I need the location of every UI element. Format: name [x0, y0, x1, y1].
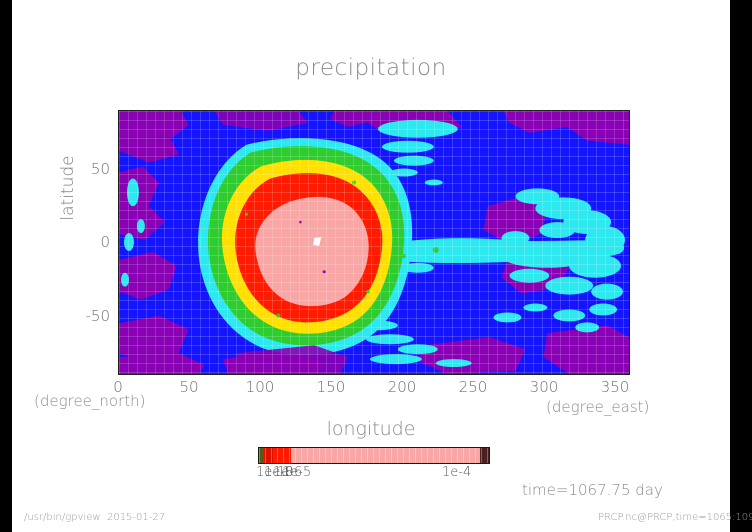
figure-root: precipitation	[0, 0, 752, 532]
ytick-50: 50	[91, 160, 110, 178]
xtick-200: 200	[388, 378, 417, 396]
y-axis-units: (degree_north)	[34, 392, 146, 410]
contour-field	[119, 111, 629, 374]
heatmap-plot[interactable]	[118, 110, 630, 375]
colorbar[interactable]	[258, 447, 490, 464]
xtick-250: 250	[459, 378, 488, 396]
xtick-350: 350	[601, 378, 630, 396]
colorbar-segment	[264, 448, 273, 463]
page-title: precipitation	[12, 55, 730, 81]
xtick-150: 150	[317, 378, 346, 396]
ytick-minus50: -50	[86, 307, 111, 325]
figure-canvas: precipitation	[12, 0, 730, 532]
ytick-0: 0	[100, 233, 110, 251]
x-axis-units: (degree_east)	[546, 398, 649, 416]
colorbar-segment	[291, 448, 480, 463]
colorbar-label-1e-4: 1e-4	[442, 465, 471, 480]
colorbar-segment	[273, 448, 291, 463]
xtick-300: 300	[530, 378, 559, 396]
colorbar-label-1e-5: 1e-5	[282, 465, 311, 480]
y-axis-label: latitude	[58, 128, 78, 248]
colorbar-segment	[480, 448, 489, 463]
xtick-50: 50	[179, 378, 198, 396]
footer-source: PRCP.nc@PRCP,time=1065:1095	[598, 512, 752, 523]
footer-command: /usr/bin/gpview 2015-01-27	[24, 512, 165, 523]
x-axis-label: longitude	[12, 418, 730, 440]
time-annotation: time=1067.75 day	[522, 481, 663, 499]
xtick-100: 100	[246, 378, 275, 396]
